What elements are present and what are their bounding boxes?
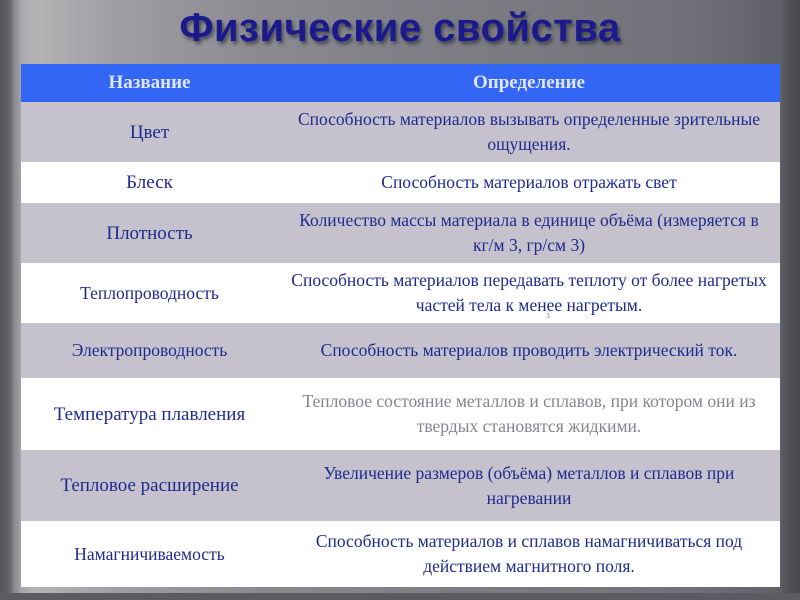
table-row: Намагничиваемость Способность материалов… [21,521,780,587]
table-row: Плотность Количество массы материала в е… [21,203,780,263]
property-definition: Увеличение размеров (объёма) металлов и … [278,450,780,521]
property-definition: Способность материалов и сплавов намагни… [278,521,780,587]
property-name: Тепловое расширение [21,450,278,521]
right-edge-band [782,0,800,600]
table-body: Цвет Способность материалов вызывать опр… [21,102,780,587]
property-name: Теплопроводность [21,263,278,323]
bottom-edge-band [0,593,800,600]
property-definition: Способность материалов вызывать определе… [278,102,780,162]
property-name: Плотность [21,203,278,263]
page-title: Физические свойства [0,2,800,54]
left-edge-band [0,0,12,600]
table-header-row: Название Определение [21,64,780,102]
property-definition: Тепловое состояние металлов и сплавов, п… [278,378,780,450]
property-name: Температура плавления [21,378,278,450]
property-name: Электропроводность [21,323,278,378]
column-header-name: Название [21,64,278,102]
property-definition: Способность материалов проводить электри… [278,323,780,378]
column-header-definition: Определение [278,64,780,102]
table-row: Цвет Способность материалов вызывать опр… [21,102,780,162]
property-name: Блеск [21,162,278,203]
table-row: Тепловое расширение Увеличение размеров … [21,450,780,521]
property-name: Намагничиваемость [21,521,278,587]
property-definition: Количество массы материала в единице объ… [278,203,780,263]
table-row: Теплопроводность Способность материалов … [21,263,780,323]
slide-canvas: Физические свойства Название Определение… [0,0,800,600]
property-definition: Способность материалов отражать свет [278,162,780,203]
property-definition: Способность материалов передавать теплот… [278,263,780,323]
table-header: Название Определение [21,64,780,102]
property-name: Цвет [21,102,278,162]
properties-table: Название Определение Цвет Способность ма… [21,64,780,587]
table-row: Электропроводность Способность материало… [21,323,780,378]
table-row: Температура плавления Тепловое состояние… [21,378,780,450]
definition-text: Способность материалов передавать теплот… [291,270,766,315]
table-row: Блеск Способность материалов отражать св… [21,162,780,203]
